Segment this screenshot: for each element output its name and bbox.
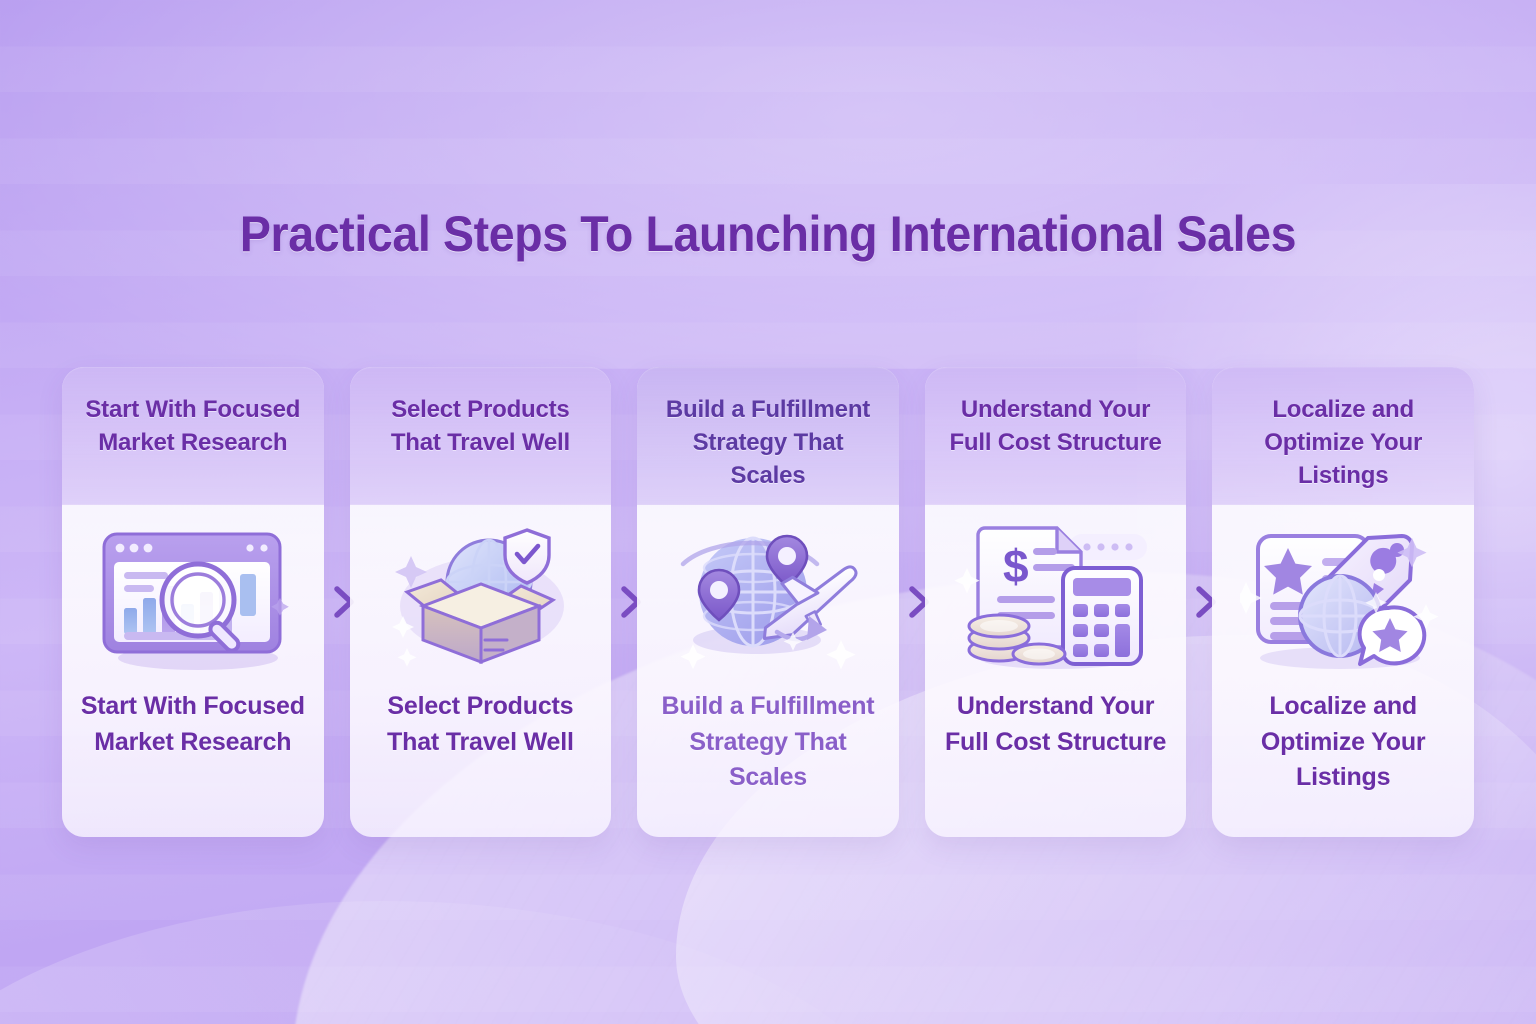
- cost-structure-icon: $: [951, 515, 1161, 685]
- step-card-2[interactable]: Select Products That Travel Well: [350, 367, 612, 837]
- step-5-body: Localize and Optimize Your Listings: [1212, 505, 1474, 837]
- step-5-caption: Localize and Optimize Your Listings: [1224, 689, 1462, 796]
- step-2-header-text: Select Products That Travel Well: [366, 393, 596, 459]
- svg-text:$: $: [1003, 540, 1029, 592]
- step-1-body: Start With Focused Market Research: [62, 505, 324, 837]
- step-4-header: Understand Your Full Cost Structure: [925, 367, 1187, 505]
- step-card-4[interactable]: Understand Your Full Cost Structure: [925, 367, 1187, 837]
- step-1-header-text: Start With Focused Market Research: [78, 393, 308, 459]
- background-swoosh-left: [0, 901, 922, 1024]
- arrow-right-icon-3: [903, 367, 921, 837]
- step-2-header: Select Products That Travel Well: [350, 367, 612, 505]
- step-1-caption: Start With Focused Market Research: [74, 689, 312, 760]
- step-4-caption: Understand Your Full Cost Structure: [937, 689, 1175, 760]
- step-3-header: Build a Fulfillment Strategy That Scales: [637, 367, 899, 505]
- global-fulfillment-icon: [663, 515, 873, 685]
- step-3-caption: Build a Fulfillment Strategy That Scales: [649, 689, 887, 796]
- background-top-glow: [0, 0, 1536, 369]
- step-3-header-text: Build a Fulfillment Strategy That Scales: [653, 393, 883, 492]
- step-3-body: Build a Fulfillment Strategy That Scales: [637, 505, 899, 837]
- step-5-header-text: Localize and Optimize Your Listings: [1228, 393, 1458, 492]
- step-1-header: Start With Focused Market Research: [62, 367, 324, 505]
- steps-flow: Start With Focused Market Research: [62, 367, 1474, 837]
- arrow-right-icon-1: [328, 367, 346, 837]
- step-4-body: $: [925, 505, 1187, 837]
- step-4-header-text: Understand Your Full Cost Structure: [941, 393, 1171, 459]
- arrow-right-icon-2: [615, 367, 633, 837]
- product-selection-icon: [375, 515, 585, 685]
- step-card-1[interactable]: Start With Focused Market Research: [62, 367, 324, 837]
- localize-listings-icon: [1238, 515, 1448, 685]
- step-card-3[interactable]: Build a Fulfillment Strategy That Scales: [637, 367, 899, 837]
- step-2-body: Select Products That Travel Well: [350, 505, 612, 837]
- arrow-right-icon-4: [1190, 367, 1208, 837]
- market-research-dashboard-icon: [88, 515, 298, 685]
- step-2-caption: Select Products That Travel Well: [362, 689, 600, 760]
- step-card-5[interactable]: Localize and Optimize Your Listings: [1212, 367, 1474, 837]
- step-5-header: Localize and Optimize Your Listings: [1212, 367, 1474, 505]
- page-title: Practical Steps To Launching Internation…: [54, 205, 1482, 263]
